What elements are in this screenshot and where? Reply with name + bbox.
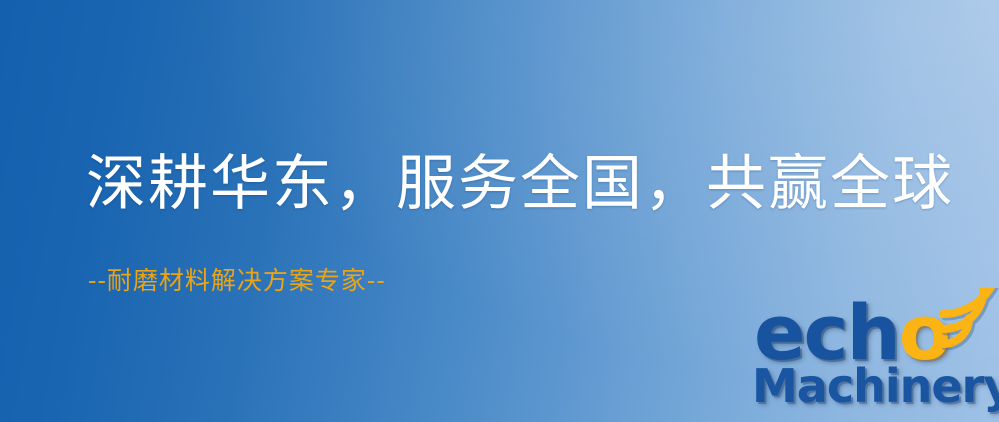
banner-subheadline: --耐磨材料解决方案专家-- (88, 268, 386, 293)
logo-machinery-text: Machinery® (752, 360, 999, 418)
banner-headline: 深耕华东，服务全国，共赢全球 (86, 154, 954, 214)
echo-machinery-logo[interactable]: echo Machine (748, 292, 999, 422)
hero-banner: 深耕华东，服务全国，共赢全球 --耐磨材料解决方案专家-- echo (0, 0, 999, 422)
logo-machinery-label: Machinery (752, 359, 999, 413)
